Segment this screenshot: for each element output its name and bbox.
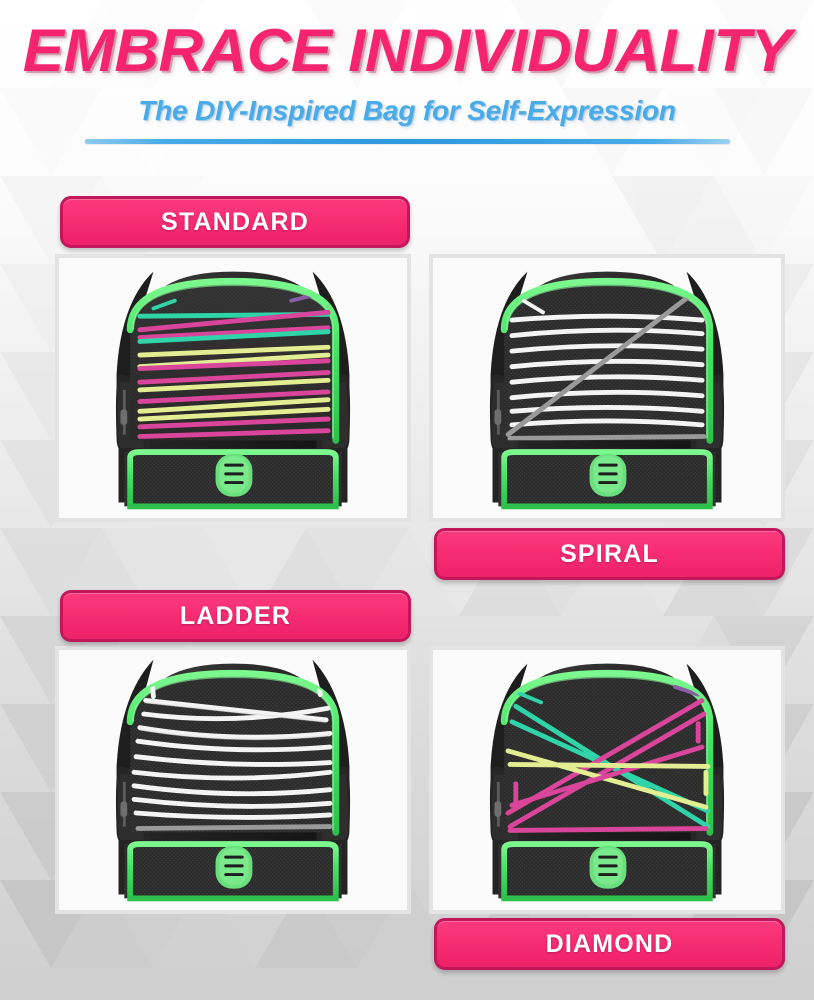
panel-spiral — [429, 254, 785, 522]
badge-diamond[interactable]: DIAMOND — [434, 918, 785, 970]
badge-ladder[interactable]: LADDER — [60, 590, 411, 642]
title-underline — [85, 139, 730, 144]
buckle — [590, 846, 627, 889]
badge-standard[interactable]: STANDARD — [60, 196, 410, 248]
panel-ladder — [55, 646, 411, 914]
badge-spiral[interactable]: SPIRAL — [434, 528, 785, 580]
header: EMBRACE INDIVIDUALITY The DIY-Inspired B… — [0, 0, 814, 178]
buckle — [590, 454, 627, 497]
panel-standard — [55, 254, 411, 522]
page-subtitle: The DIY-Inspired Bag for Self-Expression — [0, 95, 814, 127]
page-title: EMBRACE INDIVIDUALITY — [0, 20, 814, 81]
buckle — [216, 846, 253, 889]
buckle — [216, 454, 253, 497]
panel-diamond — [429, 646, 785, 914]
